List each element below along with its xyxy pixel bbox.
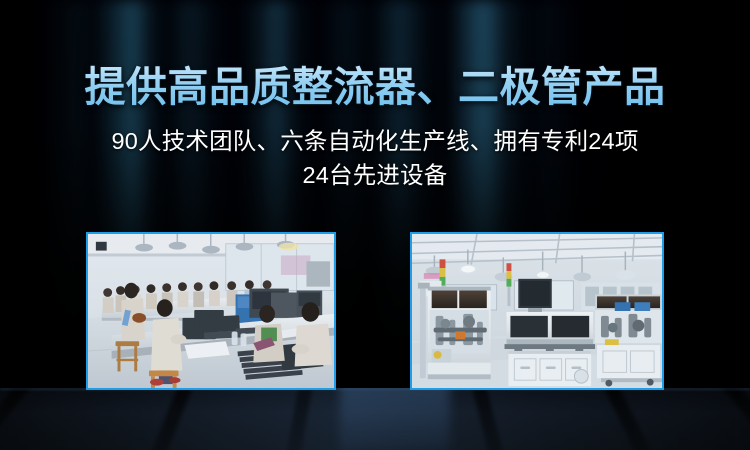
banner-headline: 提供高品质整流器、二极管产品 bbox=[0, 0, 750, 113]
banner-subtitle: 90人技术团队、六条自动化生产线、拥有专利24项 24台先进设备 bbox=[0, 113, 750, 192]
production-equipment-photo-art bbox=[412, 234, 662, 388]
perspective-floor bbox=[0, 388, 750, 450]
photo-automated-production-equipment bbox=[410, 232, 664, 390]
assembly-line-photo-art bbox=[88, 234, 334, 388]
promo-banner: 提供高品质整流器、二极管产品 90人技术团队、六条自动化生产线、拥有专利24项 … bbox=[0, 0, 750, 450]
photo-assembly-line-workers bbox=[86, 232, 336, 390]
floor-sheen bbox=[0, 388, 750, 450]
banner-subtitle-line-1: 90人技术团队、六条自动化生产线、拥有专利24项 bbox=[0, 125, 750, 158]
banner-subtitle-line-2: 24台先进设备 bbox=[0, 159, 750, 192]
banner-text-block: 提供高品质整流器、二极管产品 90人技术团队、六条自动化生产线、拥有专利24项 … bbox=[0, 0, 750, 192]
